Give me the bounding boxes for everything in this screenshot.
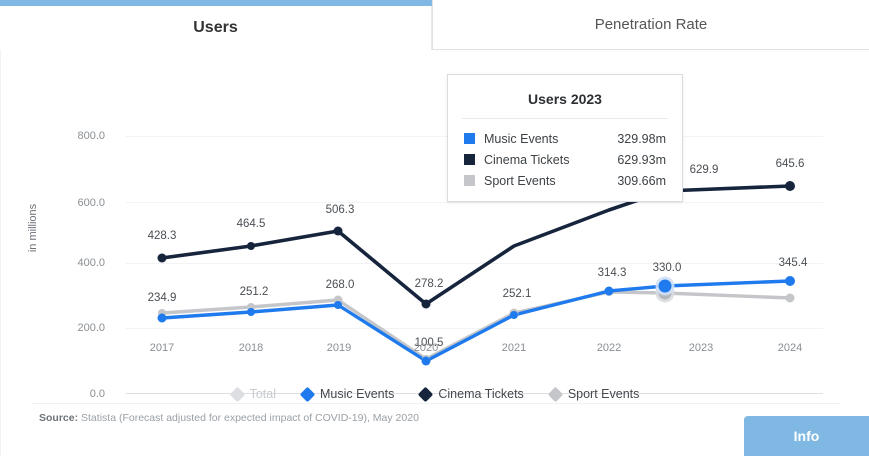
x-tick-2020: 2020	[386, 342, 466, 354]
tab-users[interactable]: Users	[0, 6, 432, 50]
tooltip-divider	[462, 118, 668, 119]
x-tick-2019: 2019	[299, 342, 379, 354]
chart-page: Users Penetration Rate in millions 800.0…	[0, 0, 869, 456]
source-prefix: Source:	[39, 412, 78, 424]
tab-users-label: Users	[193, 19, 237, 37]
data-label-music-2017: 234.9	[148, 292, 177, 304]
tooltip-swatch-sport-events-icon	[464, 175, 475, 186]
legend-marker-total-icon	[229, 386, 245, 402]
tooltip-row-cinema-tickets: Cinema Tickets 629.93m	[464, 149, 666, 170]
tooltip-value-cinema-tickets: 629.93m	[617, 153, 666, 167]
data-label-cinema-2024: 645.6	[776, 158, 805, 170]
tooltip-value-sport-events: 309.66m	[617, 174, 666, 188]
legend-label-total: Total	[250, 387, 276, 401]
tooltip-swatch-music-events-icon	[464, 133, 475, 144]
source-note: Source: Statista (Forecast adjusted for …	[39, 412, 419, 424]
tooltip-title: Users 2023	[448, 91, 682, 107]
legend-item-total[interactable]: Total	[232, 387, 276, 401]
tooltip-rows: Music Events 329.98m Cinema Tickets 629.…	[464, 128, 666, 191]
info-button-label: Info	[794, 428, 820, 444]
tooltip-row-music-events: Music Events 329.98m	[464, 128, 666, 149]
legend-item-sport-events[interactable]: Sport Events	[550, 387, 640, 401]
x-tick-2022: 2022	[569, 342, 649, 354]
data-label-music-2021: 252.1	[503, 288, 532, 300]
chart-canvas: in millions 800.0 600.0 400.0 200.0 0.0	[1, 50, 869, 406]
tooltip-row-sport-events: Sport Events 309.66m	[464, 170, 666, 191]
legend-label-music-events: Music Events	[320, 387, 394, 401]
tab-penetration-rate[interactable]: Penetration Rate	[432, 0, 869, 50]
tab-bar: Users Penetration Rate	[0, 0, 869, 50]
x-tick-2017: 2017	[122, 342, 202, 354]
legend-item-music-events[interactable]: Music Events	[302, 387, 394, 401]
tab-penetration-rate-label: Penetration Rate	[595, 16, 708, 33]
legend-marker-music-events-icon	[300, 386, 316, 402]
data-label-music-2024: 345.4	[779, 257, 808, 269]
data-label-cinema-2018: 464.5	[237, 218, 266, 230]
data-label-cinema-2017: 428.3	[148, 230, 177, 242]
highlight-marker-music-2023	[656, 277, 675, 296]
data-label-music-2022: 314.3	[598, 267, 627, 279]
x-tick-2023: 2023	[661, 342, 741, 354]
data-label-music-2018: 251.2	[240, 286, 269, 298]
x-tick-2021: 2021	[474, 342, 554, 354]
legend-label-cinema-tickets: Cinema Tickets	[438, 387, 523, 401]
info-button[interactable]: Info	[744, 416, 869, 456]
legend-item-cinema-tickets[interactable]: Cinema Tickets	[420, 387, 523, 401]
legend-label-sport-events: Sport Events	[568, 387, 640, 401]
data-label-cinema-2023: 629.9	[690, 164, 719, 176]
source-text: Statista (Forecast adjusted for expected…	[81, 412, 419, 424]
x-tick-2024: 2024	[750, 342, 830, 354]
legend-marker-cinema-tickets-icon	[418, 386, 434, 402]
data-label-cinema-2019: 506.3	[326, 204, 355, 216]
source-divider	[31, 403, 841, 404]
tooltip-swatch-cinema-tickets-icon	[464, 154, 475, 165]
tooltip-value-music-events: 329.98m	[617, 132, 666, 146]
data-label-music-2023: 330.0	[653, 262, 682, 274]
chart-card: in millions 800.0 600.0 400.0 200.0 0.0	[0, 50, 869, 456]
x-tick-2018: 2018	[211, 342, 291, 354]
data-label-cinema-2020: 278.2	[415, 278, 444, 290]
tooltip-name-cinema-tickets: Cinema Tickets	[484, 153, 617, 167]
tooltip-name-sport-events: Sport Events	[484, 174, 617, 188]
data-label-music-2019: 268.0	[326, 279, 355, 291]
legend-marker-sport-events-icon	[548, 386, 564, 402]
tooltip-name-music-events: Music Events	[484, 132, 617, 146]
chart-tooltip: Users 2023 Music Events 329.98m Cinema T…	[447, 74, 683, 202]
